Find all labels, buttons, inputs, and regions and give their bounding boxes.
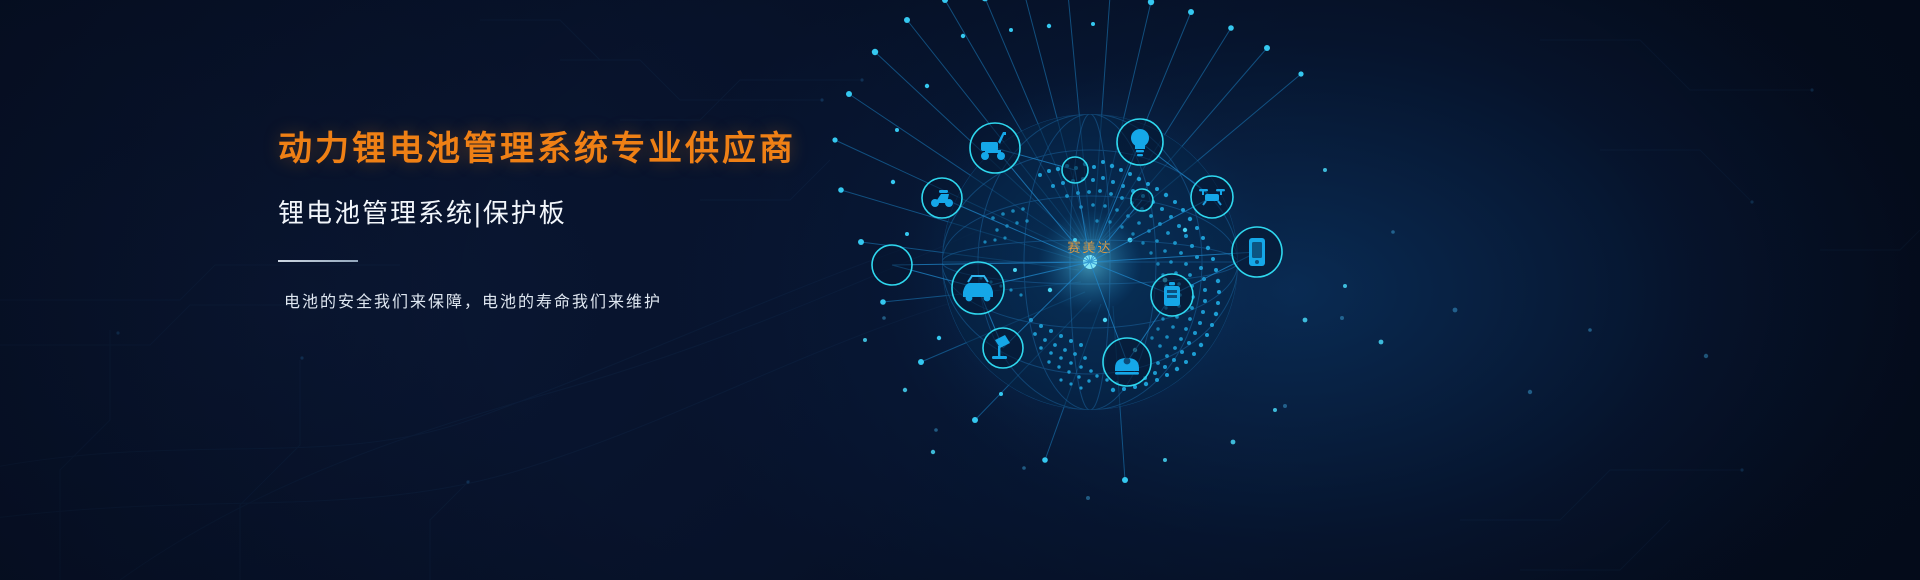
node-small-top[interactable] <box>1062 157 1088 183</box>
banner-copy: 动力锂电池管理系统专业供应商 锂电池管理系统|保护板 电池的安全我们来保障，电池… <box>278 128 918 312</box>
node-small-mid[interactable] <box>1131 189 1153 211</box>
banner-subheadline: 锂电池管理系统|保护板 <box>278 197 918 231</box>
robot-vacuum-icon <box>1115 358 1139 375</box>
node-car[interactable] <box>952 262 1004 314</box>
node-battery[interactable] <box>1151 274 1193 316</box>
brand-mark-text: 赛美达 <box>1067 240 1112 255</box>
globe-graphic: 赛美达 <box>835 0 1455 580</box>
node-lightbulb[interactable] <box>1117 119 1163 165</box>
node-ebike[interactable] <box>922 178 962 218</box>
hero-banner: 赛美达 <box>0 0 1920 580</box>
node-scooter[interactable] <box>970 123 1020 173</box>
node-drone[interactable] <box>1191 176 1233 218</box>
node-robot[interactable] <box>1103 338 1151 386</box>
title-divider <box>278 260 358 262</box>
node-powerbank[interactable] <box>1232 227 1282 277</box>
node-lamp[interactable] <box>983 328 1023 368</box>
power-bank-icon <box>1249 238 1265 266</box>
banner-headline: 动力锂电池管理系统专业供应商 <box>278 128 918 171</box>
banner-tagline: 电池的安全我们来保障，电池的寿命我们来维护 <box>284 288 918 312</box>
